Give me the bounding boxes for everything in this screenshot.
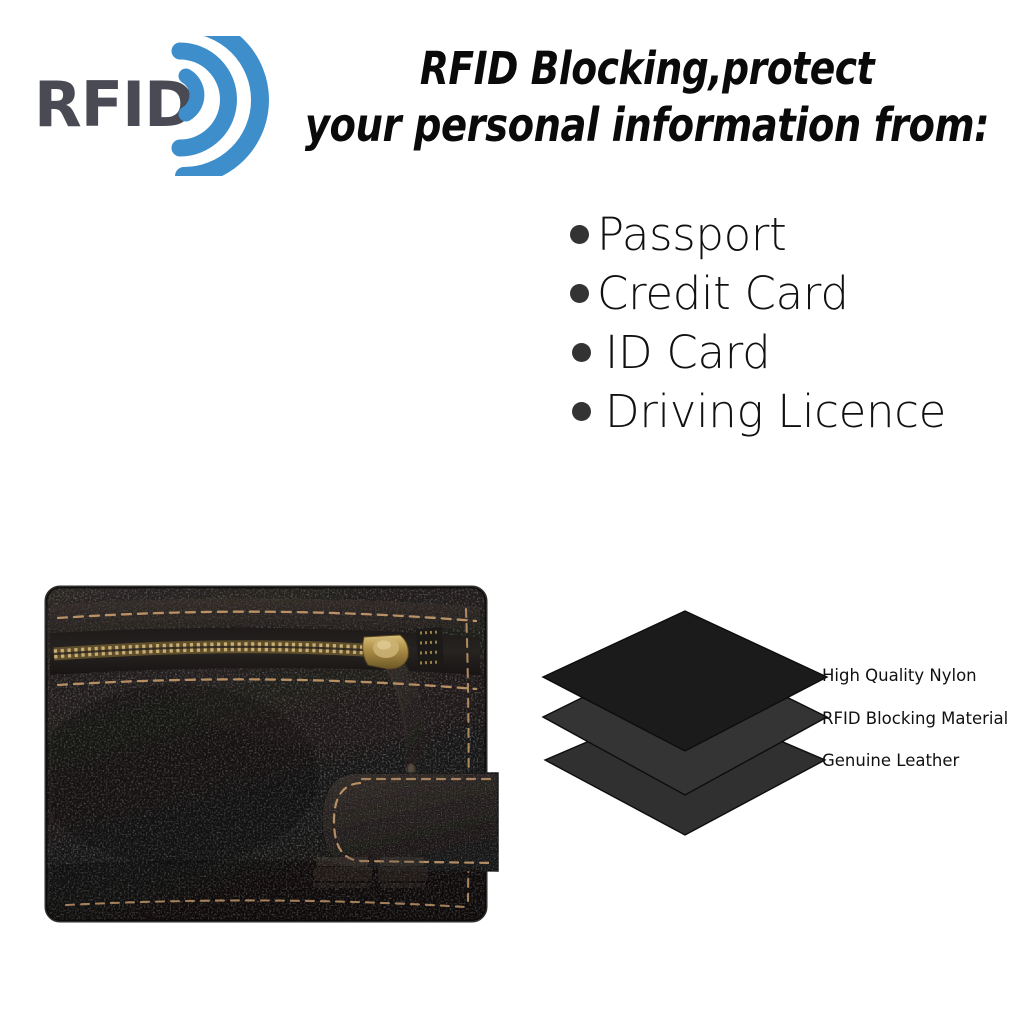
bullet-dot-icon <box>572 343 591 362</box>
headline-line-2: your personal information from: <box>296 97 997 154</box>
bullet-dot-icon <box>570 284 589 303</box>
bifold-zip-wallet-photo <box>28 565 503 940</box>
protected-items-list: Passport Credit Card ID Card Driving Lic… <box>560 205 1020 441</box>
zipper-teeth <box>54 647 364 654</box>
list-item: Driving Licence <box>572 382 1020 441</box>
list-item-label: Driving Licence <box>605 388 946 435</box>
list-item: Passport <box>570 205 1020 264</box>
list-item-label: Credit Card <box>597 270 849 317</box>
list-item: ID Card <box>572 323 1020 382</box>
list-item: Credit Card <box>570 264 1020 323</box>
layer-label-genuine-leather: Genuine Leather <box>822 752 959 770</box>
snap-closure-tab <box>322 773 498 871</box>
layer-label-nylon: High Quality Nylon <box>822 667 977 685</box>
material-layer-stack <box>535 605 835 860</box>
headline-line-1: RFID Blocking,protect <box>296 40 997 97</box>
infographic-canvas: RFID RFID Blocking,protect your personal… <box>0 0 1024 1024</box>
list-item-label: ID Card <box>605 329 770 376</box>
headline: RFID Blocking,protect your personal info… <box>296 40 997 154</box>
rfid-signal-waves-icon <box>34 36 294 176</box>
zipper <box>50 628 480 675</box>
bullet-dot-icon <box>570 225 589 244</box>
layer-label-rfid-blocking: RFID Blocking Material <box>822 710 1008 728</box>
bullet-dot-icon <box>572 402 591 421</box>
rfid-logo: RFID <box>34 36 294 176</box>
layer-stack-diagram <box>535 605 835 860</box>
wallet-product-image <box>28 565 503 940</box>
list-item-label: Passport <box>597 211 786 258</box>
